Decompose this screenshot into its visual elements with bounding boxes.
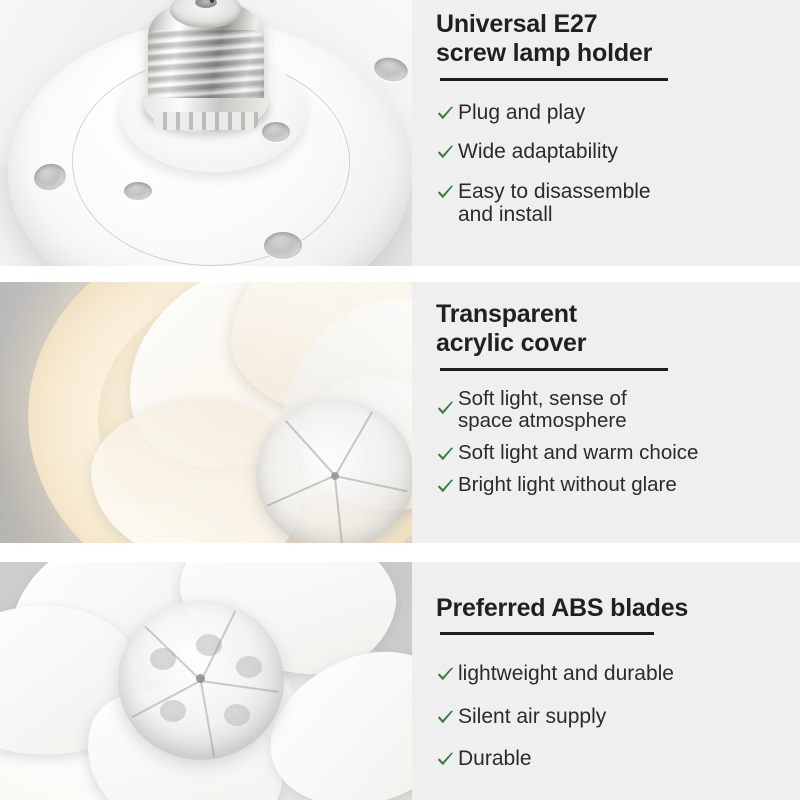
- product-photo-abs-blades: [0, 562, 412, 800]
- feature-bullet-label: Soft light, sense of space atmosphere: [458, 388, 627, 434]
- check-icon: [436, 749, 455, 770]
- title-underline-rule: [440, 632, 654, 635]
- feature-text-block: Preferred ABS blades lightweight and dur…: [412, 562, 800, 800]
- feature-bullet-item: Soft light and warm choice: [436, 442, 800, 465]
- feature-bullet-list: Plug and play Wide adaptability Easy to …: [436, 101, 800, 227]
- panel-title: Transparent acrylic cover: [436, 300, 800, 359]
- lamp-holder-image: [0, 0, 412, 266]
- check-icon: [436, 707, 455, 728]
- product-photo-lamp-holder: [0, 0, 412, 266]
- panel-title: Preferred ABS blades: [436, 594, 800, 623]
- e27-screw-socket: [148, 0, 264, 134]
- product-photo-acrylic-cover: [0, 282, 412, 543]
- feature-panel-abs-blades: Preferred ABS blades lightweight and dur…: [0, 562, 800, 800]
- feature-bullet-label: lightweight and durable: [458, 662, 674, 686]
- feature-bullet-label: Wide adaptability: [458, 140, 618, 164]
- feature-bullet-label: Easy to disassemble and install: [458, 180, 651, 227]
- check-icon: [436, 664, 455, 685]
- check-icon: [436, 103, 455, 124]
- feature-bullet-label: Silent air supply: [458, 705, 606, 729]
- feature-bullet-list: Soft light, sense of space atmosphere So…: [436, 388, 800, 498]
- feature-bullet-label: Plug and play: [458, 101, 585, 125]
- screw-hole: [262, 122, 290, 142]
- feature-bullet-item: Easy to disassemble and install: [436, 180, 800, 227]
- title-underline-rule: [440, 368, 668, 371]
- feature-text-block: Transparent acrylic cover Soft light, se…: [412, 282, 800, 543]
- socket-metal-tabs: [154, 112, 258, 130]
- feature-bullet-list: lightweight and durable Silent air suppl…: [436, 662, 800, 771]
- feature-bullet-item: Bright light without glare: [436, 474, 800, 497]
- feature-bullet-item: Wide adaptability: [436, 140, 800, 164]
- abs-blades-image: [0, 562, 412, 800]
- check-icon: [436, 182, 455, 203]
- screw-hole: [264, 232, 302, 259]
- feature-bullet-label: Soft light and warm choice: [458, 442, 698, 465]
- fan-hub-center-screw: [196, 674, 205, 683]
- feature-bullet-item: Soft light, sense of space atmosphere: [436, 388, 800, 434]
- feature-bullet-item: Durable: [436, 747, 800, 771]
- feature-bullet-item: Silent air supply: [436, 705, 800, 729]
- acrylic-cover-image: [0, 282, 412, 543]
- check-icon: [436, 398, 455, 419]
- feature-bullet-item: Plug and play: [436, 101, 800, 125]
- check-icon: [436, 444, 455, 465]
- feature-panel-e27-lamp-holder: Universal E27 screw lamp holder Plug and…: [0, 0, 800, 266]
- feature-text-block: Universal E27 screw lamp holder Plug and…: [412, 0, 800, 266]
- feature-bullet-label: Bright light without glare: [458, 474, 677, 497]
- check-icon: [436, 476, 455, 497]
- fan-hub-center-screw: [331, 472, 339, 480]
- feature-bullet-label: Durable: [458, 747, 532, 771]
- feature-bullet-item: lightweight and durable: [436, 662, 800, 686]
- feature-panel-acrylic-cover: Transparent acrylic cover Soft light, se…: [0, 282, 800, 543]
- check-icon: [436, 142, 455, 163]
- title-underline-rule: [440, 78, 668, 81]
- product-feature-sheet: Universal E27 screw lamp holder Plug and…: [0, 0, 800, 800]
- panel-title: Universal E27 screw lamp holder: [436, 10, 800, 69]
- screw-hole: [124, 182, 152, 200]
